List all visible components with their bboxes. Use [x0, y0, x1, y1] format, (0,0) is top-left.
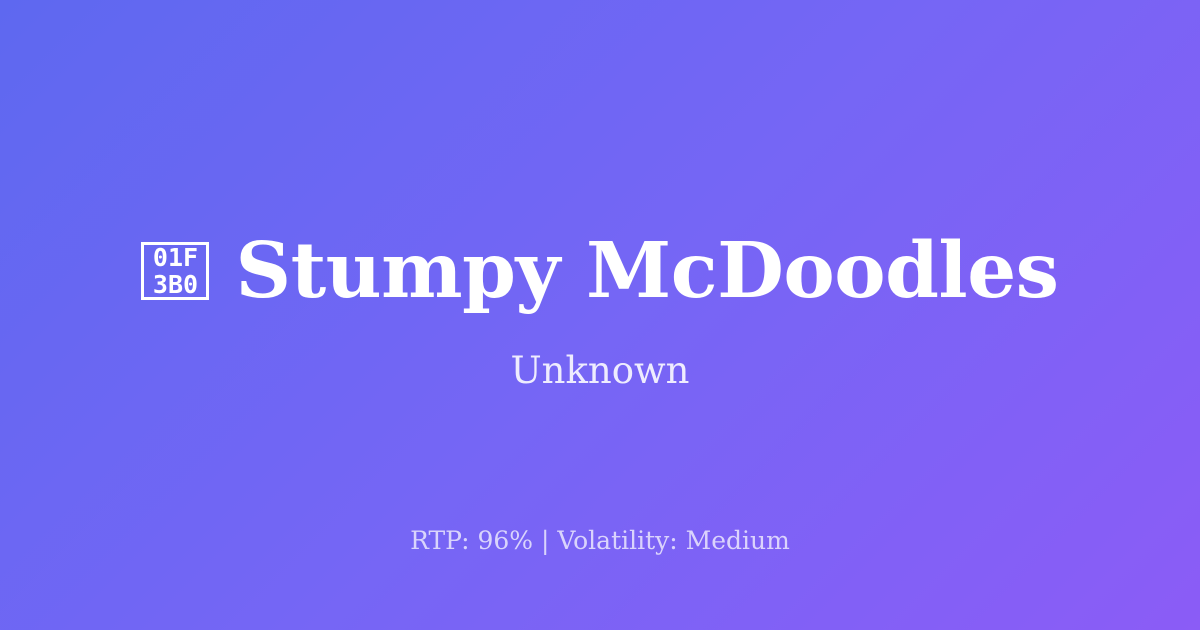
og-card: 01F 3B0 Stumpy McDoodles Unknown RTP: 96…: [0, 0, 1200, 630]
slot-machine-icon: 01F 3B0: [141, 242, 209, 300]
tofu-codepoint-bottom: 3B0: [153, 272, 198, 298]
title-row: 01F 3B0 Stumpy McDoodles: [141, 232, 1058, 310]
game-meta-footer: RTP: 96% | Volatility: Medium: [0, 528, 1200, 553]
hero-block: 01F 3B0 Stumpy McDoodles Unknown: [0, 232, 1200, 389]
tofu-codepoint-top: 01F: [153, 245, 198, 271]
page-title: Stumpy McDoodles: [235, 233, 1058, 310]
page-subtitle: Unknown: [510, 352, 689, 389]
